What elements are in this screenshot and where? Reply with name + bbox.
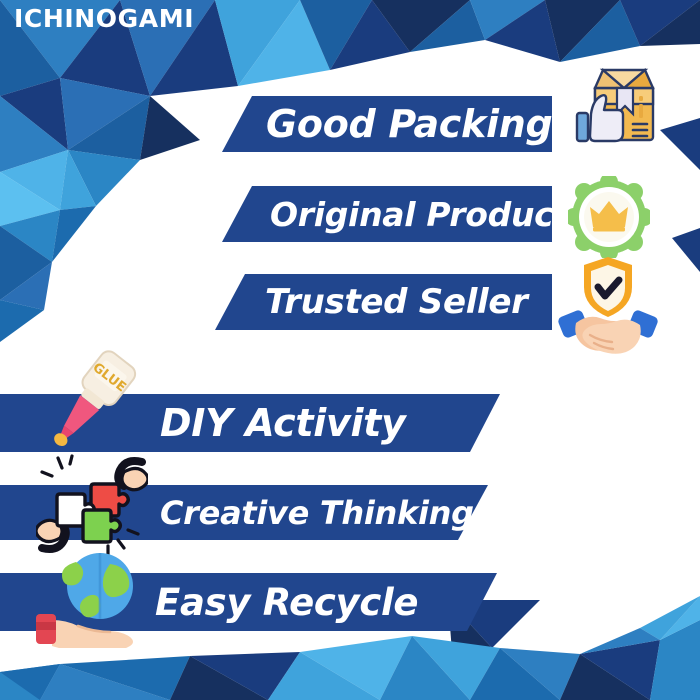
banner-creative-thinking[interactable]: Creative Thinking: [0, 485, 488, 540]
banner-label: Creative Thinking: [160, 494, 474, 532]
banner-label: Good Packing: [266, 102, 552, 146]
banner-easy-recycle[interactable]: Easy Recycle: [0, 573, 497, 631]
banner-original-product[interactable]: Original Product: [222, 186, 552, 242]
banner-good-packing[interactable]: Good Packing: [222, 96, 552, 152]
banner-label: Easy Recycle: [155, 581, 418, 624]
handshake-shield-check-icon: [556, 255, 660, 355]
banner-label: Original Product: [270, 195, 569, 234]
banner-label: DIY Activity: [160, 401, 406, 445]
svg-text:GLUE: GLUE: [90, 360, 129, 395]
package-thumbs-up-icon: [565, 58, 665, 158]
brand-logo-text: ICHINOGAMI: [14, 4, 194, 33]
banner-label: Trusted Seller: [265, 282, 528, 322]
banner-diy-activity[interactable]: DIY Activity: [0, 394, 500, 452]
crown-badge-icon: [568, 176, 650, 258]
promo-banner-canvas: ICHINOGAMI Good Packing Original Prod: [0, 0, 700, 700]
banner-trusted-seller[interactable]: Trusted Seller: [215, 274, 552, 330]
